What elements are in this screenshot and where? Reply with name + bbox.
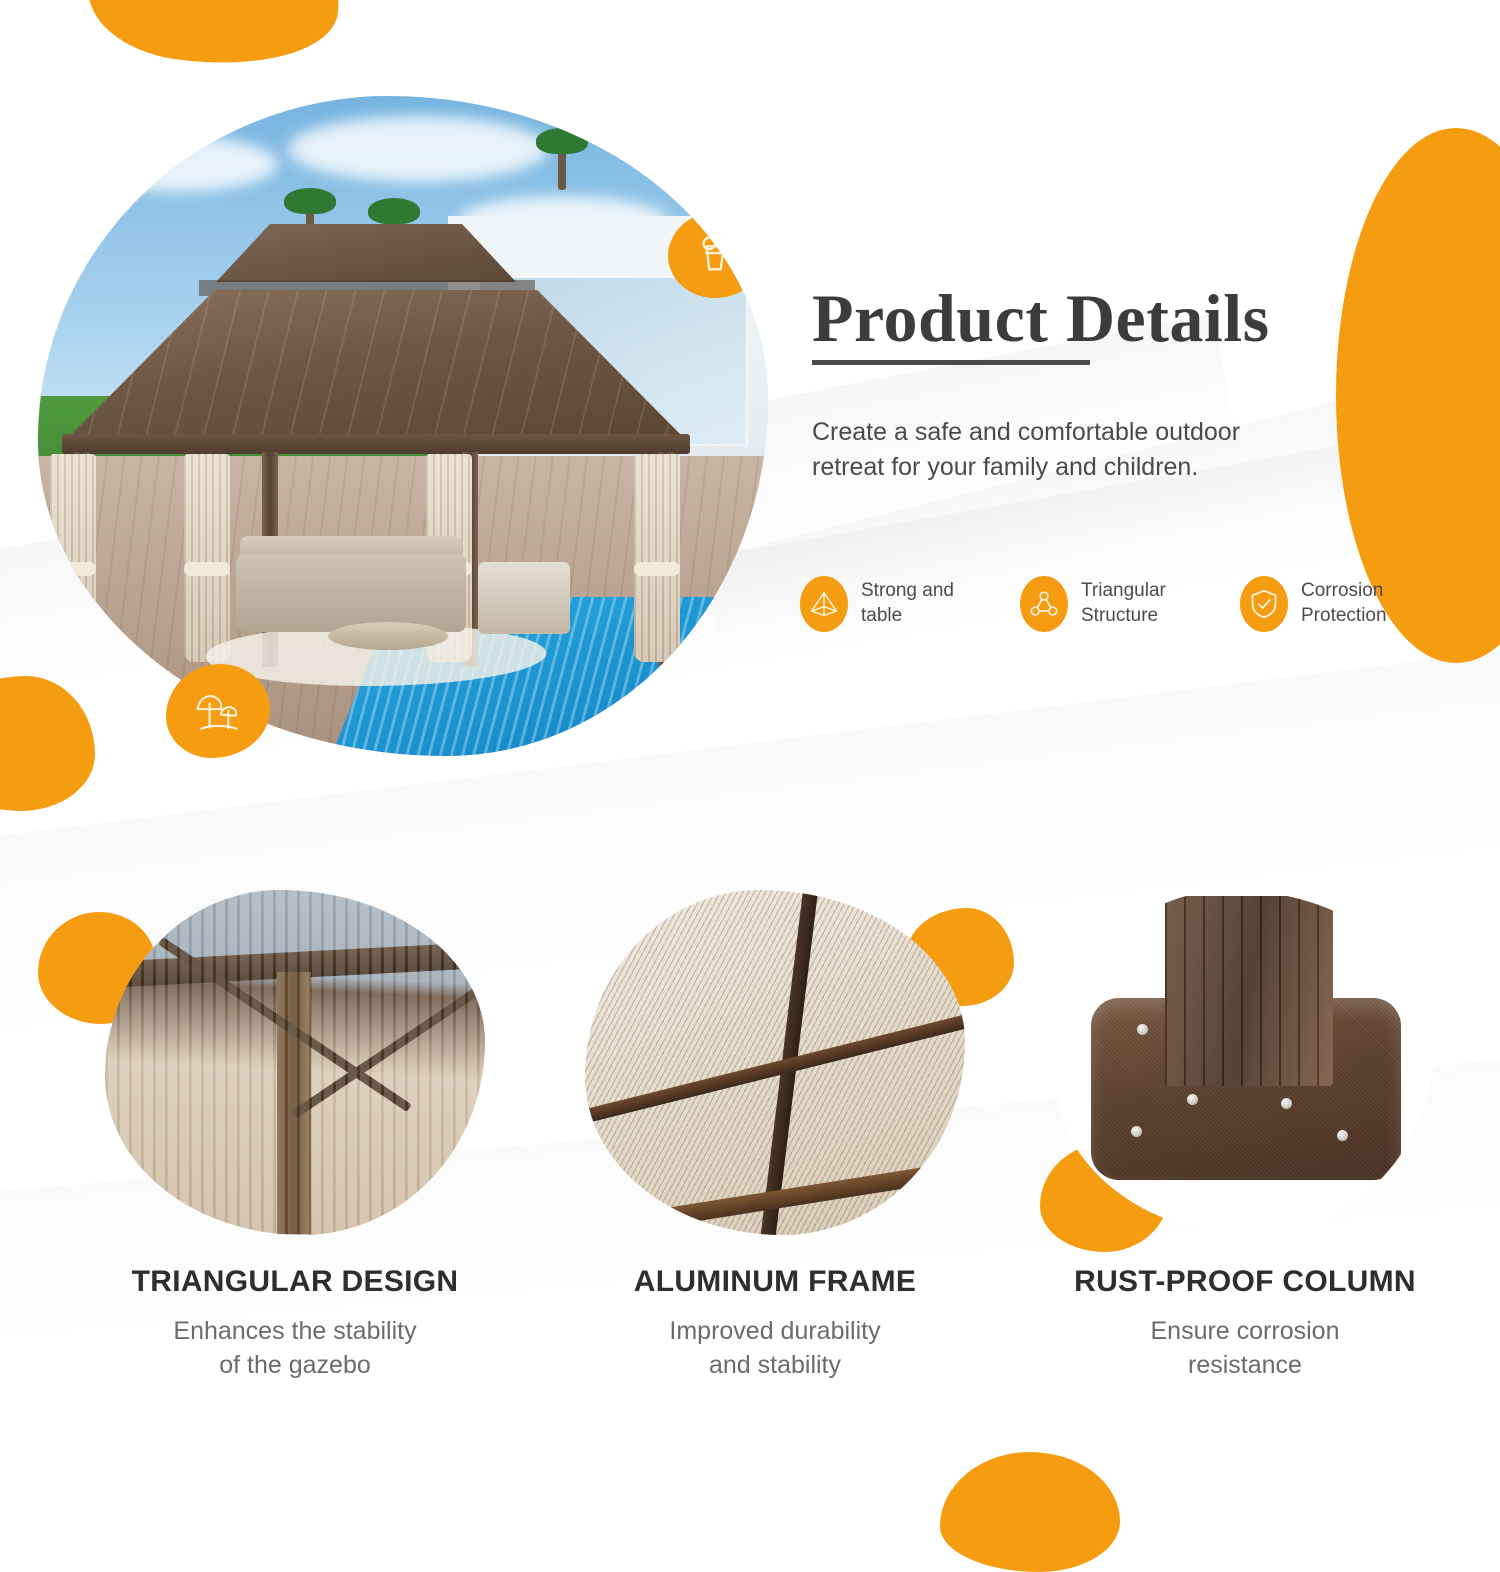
aluminum-frame-photo — [585, 890, 965, 1235]
card-title: RUST-PROOF COLUMN — [1010, 1265, 1480, 1299]
armchair — [478, 562, 570, 634]
cloud — [78, 136, 278, 192]
bolt — [1337, 1130, 1348, 1141]
header-block: Product Details Create a safe and comfor… — [812, 282, 1442, 484]
feature-label: Corrosion Protection — [1301, 579, 1387, 628]
rust-proof-column-photo — [1055, 890, 1435, 1235]
feature-list: Strong and table Triangular Structure Co… — [800, 576, 1460, 632]
feature-strong-and-stable: Strong and table — [800, 576, 1020, 632]
coffee-table — [328, 622, 448, 650]
roof-beam — [105, 942, 485, 988]
card-description: Improved durability and stability — [540, 1315, 1010, 1382]
cocktail-drink-icon — [668, 210, 762, 298]
detail-card: TRIANGULAR DESIGN Enhances the stability… — [60, 890, 530, 1382]
card-description: Ensure corrosion resistance — [1010, 1315, 1480, 1382]
feature-corrosion-protection: Corrosion Protection — [1240, 576, 1460, 632]
page-subtitle: Create a safe and comfortable outdoor re… — [812, 415, 1282, 484]
curtain-tie — [184, 562, 230, 576]
feature-triangular-structure: Triangular Structure — [1020, 576, 1240, 632]
gazebo-main-roof — [66, 290, 686, 440]
triangle-nodes-icon — [1020, 576, 1068, 632]
gazebo-fascia — [62, 434, 690, 454]
bolt — [1187, 1094, 1198, 1105]
aluminum-column — [1165, 896, 1333, 1086]
detail-card: ALUMINUM FRAME Improved durability and s… — [540, 890, 1010, 1382]
bolt — [1281, 1098, 1292, 1109]
gazebo-curtain — [50, 454, 96, 662]
feature-label: Strong and table — [861, 579, 954, 628]
gazebo-curtain — [184, 454, 230, 662]
gazebo-curtain — [634, 454, 680, 662]
curtain-tie — [50, 562, 96, 576]
shield-check-icon — [1240, 576, 1288, 632]
card-description: Enhances the stability of the gazebo — [60, 1315, 530, 1382]
hero-product-photo — [38, 96, 768, 756]
gazebo-upper-roof — [216, 224, 516, 282]
title-underline — [812, 360, 1090, 365]
corner-post — [277, 972, 311, 1234]
triangular-design-photo — [105, 890, 485, 1235]
card-title: TRIANGULAR DESIGN — [60, 1265, 530, 1299]
bolt — [1131, 1126, 1142, 1137]
bolt — [1137, 1024, 1148, 1035]
sofa — [236, 554, 466, 632]
diagonal-brace — [158, 937, 412, 1112]
detail-card: RUST-PROOF COLUMN Ensure corrosion resis… — [1010, 890, 1480, 1382]
curtain-tie — [634, 562, 680, 576]
feature-label: Triangular Structure — [1081, 579, 1166, 628]
gazebo — [66, 224, 686, 654]
page-title: Product Details — [812, 282, 1442, 354]
pyramid-icon — [800, 576, 848, 632]
diagonal-brace — [292, 971, 485, 1118]
card-title: ALUMINUM FRAME — [540, 1265, 1010, 1299]
cloud — [288, 116, 548, 182]
palm-tree — [558, 144, 566, 190]
